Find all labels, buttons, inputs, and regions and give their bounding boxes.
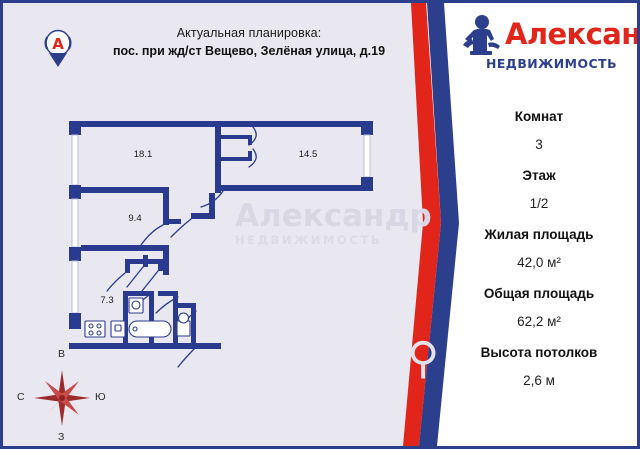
total-area-value: 62,2 м² xyxy=(455,313,623,331)
compass-rose: В С Ю З xyxy=(17,353,107,443)
property-info-list: Комнат 3 Этаж 1/2 Жилая площадь 42,0 м² … xyxy=(455,108,623,390)
room-area-label: 7.3 xyxy=(100,295,113,306)
rooms-value: 3 xyxy=(455,136,623,154)
floor-plan-drawing: 18.1 14.5 9.4 7.3 xyxy=(63,115,403,370)
floor-label: Этаж xyxy=(455,167,623,185)
map-pin-a-icon: A xyxy=(43,29,73,69)
room-area-label: 9.4 xyxy=(128,213,141,224)
compass-label-east: Ю xyxy=(95,391,106,403)
company-logo: Александр НЕДВИЖИМОСТЬ xyxy=(452,11,632,87)
living-area-value: 42,0 м² xyxy=(455,254,623,272)
compass-label-west: С xyxy=(17,391,25,403)
logo-subtitle-text: НЕДВИЖИМОСТЬ xyxy=(472,56,631,71)
ceiling-height-label: Высота потолков xyxy=(455,344,623,362)
header-block: A Актуальная планировка: пос. при жд/ст … xyxy=(41,25,401,81)
total-area-label: Общая площадь xyxy=(455,285,623,303)
title-line-2: пос. при жд/ст Вещево, Зелёная улица, д.… xyxy=(99,42,399,61)
room-area-label: 14.5 xyxy=(299,149,318,160)
living-area-label: Жилая площадь xyxy=(455,226,623,244)
rooms-label: Комнат xyxy=(455,108,623,126)
ceiling-height-value: 2,6 м xyxy=(455,372,623,390)
compass-label-south: З xyxy=(58,431,64,443)
floor-value: 1/2 xyxy=(455,195,623,213)
logo-brand-text: Александр xyxy=(505,17,640,51)
room-area-label: 18.1 xyxy=(134,149,153,160)
svg-text:A: A xyxy=(52,35,64,53)
stove-fixture xyxy=(85,321,105,337)
title-line-1: Актуальная планировка: xyxy=(99,25,399,42)
address-title: Актуальная планировка: пос. при жд/ст Ве… xyxy=(99,25,399,61)
compass-label-north: В xyxy=(58,348,65,360)
floorplan-listing-image: A Актуальная планировка: пос. при жд/ст … xyxy=(0,0,640,449)
